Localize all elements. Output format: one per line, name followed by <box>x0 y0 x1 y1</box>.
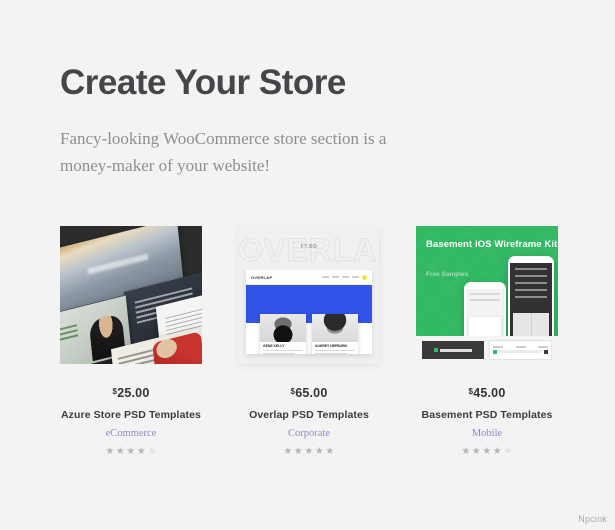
split-button <box>513 313 532 337</box>
star-icon: ★ <box>126 447 135 457</box>
browser-content-row <box>493 350 548 354</box>
star-icon: ★ <box>105 447 114 457</box>
mockup-profile-cards: GENE KELLY AUDREY HEPB <box>260 314 358 354</box>
menu-row <box>515 275 547 277</box>
content-bar <box>499 350 542 353</box>
toolbar-bar <box>493 346 503 348</box>
profile-text-lines <box>315 350 355 354</box>
text-line <box>315 353 347 354</box>
menu-row <box>515 296 547 298</box>
browser-toolbar <box>493 346 548 348</box>
phone-screen <box>466 289 504 343</box>
nav-link-bar <box>352 276 359 278</box>
mockup-nav-links <box>322 275 367 280</box>
dark-square-icon <box>544 350 548 354</box>
nav-accent-dot-icon <box>362 275 367 280</box>
nav-link-bar <box>332 276 339 278</box>
screen-menu-rows <box>510 268 552 298</box>
star-icon: ★ <box>283 447 292 457</box>
price-amount: 65.00 <box>295 386 327 400</box>
menu-row <box>515 268 547 270</box>
brand-tile <box>422 341 484 359</box>
portrait-photo-male <box>260 314 306 342</box>
product-price: $25.00 <box>113 386 150 400</box>
product-price: $65.00 <box>291 386 328 400</box>
star-icon: ★ <box>304 447 313 457</box>
product-category-link[interactable]: eCommerce <box>106 428 157 439</box>
product-thumbnail-overlap[interactable]: OVERLAP FT.BD OVERLAP <box>238 226 380 364</box>
page-title: Create Your Store <box>60 64 480 103</box>
star-icon: ★ <box>294 447 303 457</box>
accent-square-icon <box>493 350 497 354</box>
section-header: Create Your Store Fancy-looking WooComme… <box>60 64 480 180</box>
product-card-basement[interactable]: Basement iOS Wireframe Kit Free Samples <box>416 226 558 457</box>
kit-title: Basement iOS Wireframe Kit <box>426 238 557 252</box>
star-icon-empty: ★ <box>503 447 512 457</box>
product-rating[interactable]: ★ ★ ★ ★ ★ <box>105 447 156 457</box>
portrait-photo-female <box>312 314 358 342</box>
iphone-mockup-dark <box>508 256 554 348</box>
store-section-page: Create Your Store Fancy-looking WooComme… <box>0 0 615 530</box>
star-icon: ★ <box>116 447 125 457</box>
product-card-overlap[interactable]: OVERLAP FT.BD OVERLAP <box>238 226 380 457</box>
phone-screen <box>510 263 552 341</box>
overlap-badge-text: FT.BD <box>238 244 380 250</box>
overlap-ghost-text: OVERLAP <box>238 232 380 269</box>
mockup-profile-card: GENE KELLY <box>260 314 306 354</box>
product-thumbnail-azure[interactable] <box>60 226 202 364</box>
star-icon: ★ <box>461 447 470 457</box>
kit-subtitle: Free Samples <box>426 271 468 278</box>
product-card-azure[interactable]: $25.00 Azure Store PSD Templates eCommer… <box>60 226 202 457</box>
overlap-website-mockup: OVERLAP <box>246 270 372 354</box>
screen-split-buttons <box>513 313 549 337</box>
profile-name: GENE KELLY <box>263 344 303 349</box>
screen-rows <box>466 293 504 301</box>
profile-meta: AUDREY HEPBURN <box>312 342 358 354</box>
star-icon: ★ <box>325 447 334 457</box>
text-line <box>263 350 303 351</box>
brand-label-bar <box>440 349 472 352</box>
product-rating[interactable]: ★ ★ ★ ★ ★ <box>461 447 512 457</box>
toolbar-bar <box>516 346 526 348</box>
brand-mark-icon <box>434 348 438 352</box>
star-icon-empty: ★ <box>147 447 156 457</box>
nav-link-bar <box>322 276 329 278</box>
star-icon: ★ <box>315 447 324 457</box>
bottom-preview-strip <box>416 336 558 364</box>
profile-meta: GENE KELLY <box>260 342 306 354</box>
text-line <box>263 353 295 354</box>
page-subtitle: Fancy-looking WooCommerce store section … <box>60 125 412 180</box>
menu-row <box>515 289 547 291</box>
mockup-profile-card: AUDREY HEPBURN <box>312 314 358 354</box>
browser-mockup <box>489 340 552 360</box>
star-icon: ★ <box>482 447 491 457</box>
screen-row <box>470 299 500 301</box>
text-line <box>315 350 355 351</box>
price-amount: 25.00 <box>117 386 149 400</box>
toolbar-bar <box>538 346 548 348</box>
product-grid: $25.00 Azure Store PSD Templates eCommer… <box>60 226 558 457</box>
split-button <box>532 313 550 337</box>
product-category-link[interactable]: Mobile <box>472 428 502 439</box>
menu-row <box>515 282 547 284</box>
star-icon: ★ <box>472 447 481 457</box>
star-icon: ★ <box>493 447 502 457</box>
screen-row <box>470 293 500 295</box>
product-title[interactable]: Azure Store PSD Templates <box>61 409 201 421</box>
mockup-logo: OVERLAP <box>251 275 272 280</box>
product-price: $45.00 <box>469 386 506 400</box>
profile-name: AUDREY HEPBURN <box>315 344 355 349</box>
product-thumbnail-basement[interactable]: Basement iOS Wireframe Kit Free Samples <box>416 226 558 364</box>
star-icon: ★ <box>137 447 146 457</box>
nav-link-bar <box>342 276 349 278</box>
product-category-link[interactable]: Corporate <box>288 428 330 439</box>
mockup-navbar: OVERLAP <box>246 270 372 285</box>
profile-text-lines <box>263 350 303 354</box>
product-title[interactable]: Overlap PSD Templates <box>249 409 369 421</box>
price-amount: 45.00 <box>473 386 505 400</box>
product-rating[interactable]: ★ ★ ★ ★ ★ <box>283 447 334 457</box>
watermark: Npcink <box>578 514 607 524</box>
product-title[interactable]: Basement PSD Templates <box>422 409 553 421</box>
